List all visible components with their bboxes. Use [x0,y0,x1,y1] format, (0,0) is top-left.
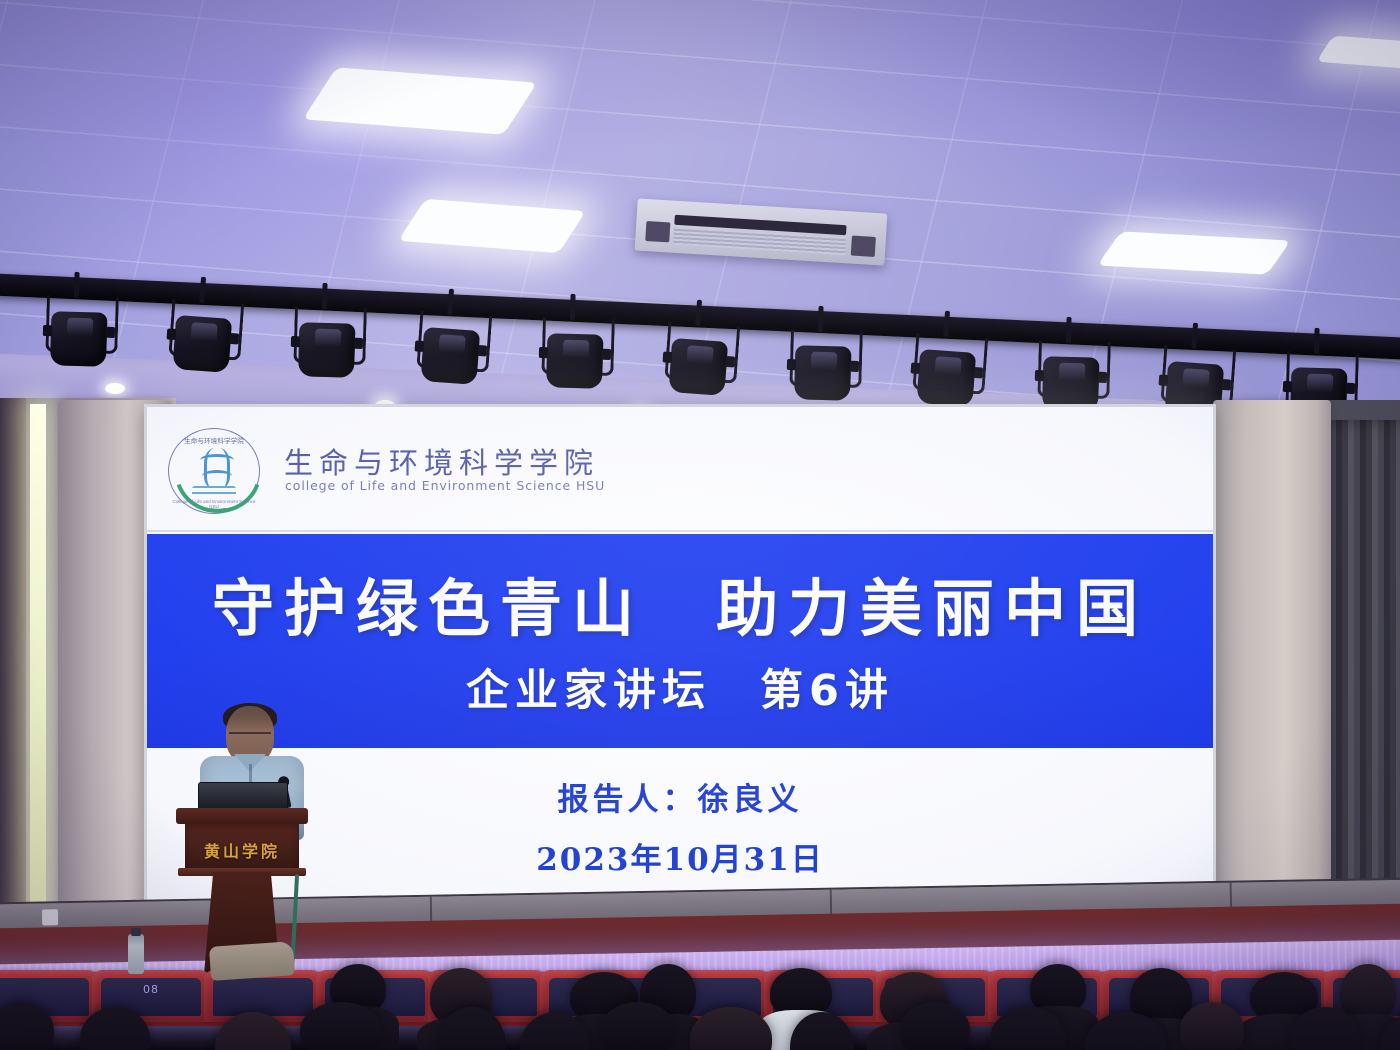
par-knob [167,329,177,341]
par-housing [172,315,232,373]
par-knob [106,327,115,338]
auditorium-photo: 生命与环境科学学院 College of Life and Environmen… [0,0,1400,1050]
par-housing [668,338,728,396]
lectern-front-panel: 黄山学院 [185,822,299,874]
par-lens [563,340,589,359]
par-lens [191,323,218,343]
college-name-cn: 生命与环境科学学院 [284,440,599,482]
par-knob [911,363,921,375]
rail-plate [42,909,58,925]
glasses-icon [229,732,271,742]
par-lens [1183,368,1210,388]
college-name-en: college of Life and Environment Science … [285,478,605,493]
par-lens [1059,363,1085,382]
par-stem [1066,317,1072,343]
audience-head [900,1002,970,1050]
audience-head [1180,1002,1244,1050]
par-lens [935,356,962,376]
lectern-engraving: 黄山学院 [185,838,299,862]
par-lens [1307,374,1333,393]
coat-on-seat [209,941,295,981]
seat-number: 08 [92,983,210,996]
par-knob [229,333,239,345]
par-stem [943,311,950,337]
par-knob [725,356,735,368]
slide-title: 守护绿色青山 助力美丽中国 [144,558,1216,648]
par-knob [539,347,548,358]
slide-header: 生命与环境科学学院 College of Life and Environmen… [144,404,1216,532]
par-knob [663,351,673,363]
emblem-water-lines [192,486,236,498]
audience-head [600,1002,676,1050]
ac-vent-corner [851,236,876,257]
par-knob [1283,381,1292,392]
par-housing [916,349,976,407]
stage-par-light [657,311,741,402]
par-knob [43,325,52,336]
par-lens [439,334,466,354]
par-housing [298,322,355,378]
par-stem [74,272,80,298]
par-lens [67,317,93,336]
slide-header-rule [144,530,1216,532]
emblem-glyph [204,448,230,488]
par-stem [818,306,824,332]
par-lens [811,351,837,370]
college-emblem-icon: 生命与环境科学学院 College of Life and Environmen… [168,428,260,514]
stage-par-light [287,296,367,384]
par-knob [787,359,796,370]
stage-par-light [783,319,863,407]
emblem-bottom-text: College of Life and Environment Science … [168,499,260,509]
par-knob [477,345,487,357]
par-knob [1098,372,1107,383]
ac-vent-corner [645,221,670,242]
par-knob [1159,374,1169,386]
par-knob [850,360,859,371]
stage-par-light [409,300,493,391]
par-knob [1221,379,1231,391]
par-knob [415,340,425,352]
stage-par-light [39,285,119,373]
audience-head [300,1002,382,1050]
stage-par-light [905,323,989,414]
par-knob [973,367,983,379]
ceiling-downlight [105,383,125,394]
par-lens [315,329,341,348]
emblem-top-text: 生命与环境科学学院 [167,435,261,445]
stage-par-light [161,289,245,380]
par-stem [1314,328,1320,354]
par-knob [354,338,363,349]
par-stem [447,288,454,314]
stage-par-light [535,307,615,395]
par-housing [420,327,480,385]
par-stem [570,294,576,320]
par-knob [1346,383,1355,394]
par-housing [50,311,107,367]
par-stem [199,277,206,303]
par-lens [687,345,714,365]
water-bottle [128,934,144,974]
par-knob [291,336,300,347]
par-stem [695,300,702,326]
par-knob [602,349,611,360]
par-housing [794,345,851,401]
seat-back [213,978,313,1016]
wall-light-strip [30,404,46,964]
audience-seating: 08101117 [0,962,1400,1050]
par-knob [1035,370,1044,381]
par-stem [1191,322,1198,348]
par-stem [322,283,328,309]
par-housing [546,334,603,390]
